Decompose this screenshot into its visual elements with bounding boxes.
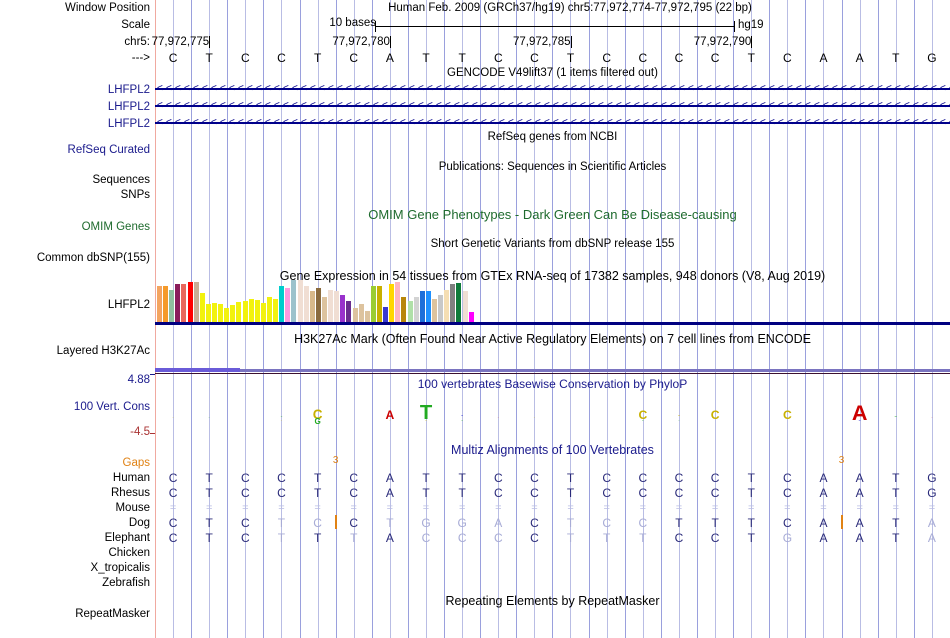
strand-arrow-icon: < bbox=[670, 100, 676, 112]
species-label-zebrafish[interactable]: Zebrafish bbox=[0, 577, 155, 590]
alignment-base: T bbox=[445, 472, 479, 484]
strand-arrow-icon: < bbox=[850, 83, 856, 95]
strand-arrow-icon: < bbox=[760, 117, 766, 129]
alignment-base: C bbox=[590, 487, 624, 499]
strand-arrow-icon: < bbox=[913, 83, 919, 95]
gtex-tissue-bar[interactable] bbox=[463, 291, 468, 322]
omim-genes-label[interactable]: OMIM Genes bbox=[0, 221, 155, 234]
reference-base: T bbox=[734, 51, 768, 65]
strand-arrow-icon: < bbox=[598, 100, 604, 112]
gap-count-label: 3 bbox=[832, 455, 852, 466]
strand-arrow-icon: < bbox=[355, 83, 361, 95]
phylop-conservation-logo[interactable]: ----CGA-T-----C---CCA--- bbox=[155, 400, 950, 440]
strand-arrow-icon: < bbox=[490, 100, 496, 112]
gtex-tissue-bar[interactable] bbox=[304, 286, 309, 322]
gtex-tissue-bar[interactable] bbox=[261, 303, 266, 322]
strand-arrow-icon: < bbox=[256, 117, 262, 129]
gtex-tissue-bar[interactable] bbox=[188, 282, 193, 322]
strand-arrow-icon: < bbox=[886, 83, 892, 95]
gtex-tissue-bar[interactable] bbox=[236, 302, 241, 322]
strand-arrow-icon: < bbox=[931, 83, 937, 95]
alignment-base: = bbox=[590, 502, 624, 514]
alignment-base: T bbox=[301, 487, 335, 499]
strand-arrow-icon: < bbox=[877, 100, 883, 112]
strand-arrow-icon: < bbox=[751, 83, 757, 95]
strand-arrow-icon: < bbox=[319, 83, 325, 95]
strand-arrow-icon: < bbox=[454, 100, 460, 112]
strand-arrow-icon: < bbox=[517, 100, 523, 112]
strand-arrow-icon: < bbox=[724, 83, 730, 95]
strand-arrow-icon: < bbox=[895, 83, 901, 95]
alignment-base: T bbox=[734, 472, 768, 484]
strand-arrow-icon: < bbox=[877, 117, 883, 129]
strand-arrow-icon: < bbox=[562, 117, 568, 129]
alignment-row-rhesus[interactable]: CTCCTCATTCCTCCCCTCAATG bbox=[155, 487, 950, 499]
strand-arrow-icon: < bbox=[346, 117, 352, 129]
conservation-logo-letter: - bbox=[855, 420, 865, 423]
strand-arrow-icon: < bbox=[697, 117, 703, 129]
strand-arrow-icon: < bbox=[454, 83, 460, 95]
alignment-row-dog[interactable]: CTCTCCTGGACTCCTTTCAATA bbox=[155, 517, 950, 529]
alignment-base: T bbox=[879, 472, 913, 484]
alignment-base: = bbox=[807, 502, 841, 514]
strand-arrow-icon: < bbox=[193, 117, 199, 129]
alignment-base: = bbox=[554, 502, 588, 514]
reference-base: C bbox=[264, 51, 298, 65]
species-label-rhesus[interactable]: Rhesus bbox=[0, 487, 155, 500]
conservation-logo-letter: - bbox=[891, 414, 901, 418]
strand-arrow-icon: < bbox=[319, 117, 325, 129]
strand-arrow-icon: < bbox=[292, 100, 298, 112]
gtex-tissue-bar[interactable] bbox=[169, 290, 174, 322]
strand-arrow-icon: < bbox=[229, 83, 235, 95]
gtex-tissue-bar[interactable] bbox=[383, 307, 388, 322]
gtex-tissue-bar[interactable] bbox=[346, 301, 351, 322]
strand-arrow-icon: < bbox=[184, 83, 190, 95]
strand-arrow-icon: < bbox=[607, 117, 613, 129]
conservation-min-value: -4.5 bbox=[4, 426, 155, 439]
gtex-tissue-bar[interactable] bbox=[175, 284, 180, 322]
conservation-logo-letter: - bbox=[385, 419, 395, 421]
alignment-base: A bbox=[373, 472, 407, 484]
strand-arrow-icon: < bbox=[346, 83, 352, 95]
alignment-base: C bbox=[698, 472, 732, 484]
alignment-base: C bbox=[626, 487, 660, 499]
gtex-tissue-bar[interactable] bbox=[408, 301, 413, 322]
strand-arrow-icon: < bbox=[814, 117, 820, 129]
gencode-row-label-1[interactable]: LHFPL2 bbox=[0, 84, 155, 97]
h3k27ac-signal-left[interactable] bbox=[155, 368, 240, 372]
gtex-tissue-bar[interactable] bbox=[218, 304, 223, 322]
alignment-base: C bbox=[301, 517, 335, 529]
gtex-tissue-bar[interactable] bbox=[157, 286, 162, 322]
conservation-logo-letter: C bbox=[709, 409, 722, 421]
refseq-track-title: RefSeq genes from NCBI bbox=[155, 131, 950, 143]
strand-arrow-icon: < bbox=[382, 117, 388, 129]
strand-arrow-icon: < bbox=[166, 117, 172, 129]
strand-arrow-icon: < bbox=[391, 83, 397, 95]
strand-arrow-icon: < bbox=[706, 117, 712, 129]
strand-arrow-icon: < bbox=[589, 83, 595, 95]
gtex-tissue-bar[interactable] bbox=[389, 284, 394, 322]
gencode-track-title: GENCODE V49lift37 (1 items filtered out) bbox=[155, 67, 950, 79]
alignment-base: A bbox=[915, 517, 949, 529]
gencode-transcript-row-1[interactable]: <<<<<<<<<<<<<<<<<<<<<<<<<<<<<<<<<<<<<<<<… bbox=[155, 83, 950, 95]
gtex-tissue-bar[interactable] bbox=[163, 286, 168, 322]
alignment-base: A bbox=[843, 517, 877, 529]
strand-arrow-icon: < bbox=[616, 117, 622, 129]
strand-arrow-icon: < bbox=[805, 83, 811, 95]
species-label-human[interactable]: Human bbox=[0, 472, 155, 485]
gtex-tissue-bar[interactable] bbox=[200, 293, 205, 322]
strand-arrow-icon: < bbox=[526, 83, 532, 95]
strand-arrow-icon: < bbox=[868, 100, 874, 112]
gtex-tissue-bar[interactable] bbox=[377, 286, 382, 322]
strand-arrow-icon: < bbox=[787, 117, 793, 129]
strand-arrow-icon: < bbox=[175, 83, 181, 95]
strand-arrow-icon: < bbox=[265, 117, 271, 129]
gtex-tissue-bar[interactable] bbox=[310, 291, 315, 322]
gtex-tissue-bar[interactable] bbox=[322, 297, 327, 322]
strand-arrow-icon: < bbox=[418, 117, 424, 129]
species-label-mouse[interactable]: Mouse bbox=[0, 502, 155, 515]
gtex-tissue-bar[interactable] bbox=[469, 312, 474, 322]
strand-arrow-icon: < bbox=[355, 117, 361, 129]
gtex-tissue-bar[interactable] bbox=[291, 280, 296, 322]
gtex-tissue-bar[interactable] bbox=[273, 299, 278, 322]
conservation-label[interactable]: 100 Vert. Cons bbox=[0, 401, 155, 414]
alignment-base: C bbox=[662, 472, 696, 484]
strand-arrow-icon: < bbox=[904, 100, 910, 112]
publications-sequences-label[interactable]: Sequences bbox=[0, 174, 155, 187]
strand-arrow-icon: < bbox=[301, 83, 307, 95]
alignment-base: = bbox=[192, 502, 226, 514]
alignment-row-chicken[interactable] bbox=[155, 547, 950, 559]
strand-arrow-icon: < bbox=[913, 100, 919, 112]
conservation-logo-letter: - bbox=[674, 419, 684, 421]
strand-arrow-icon: < bbox=[355, 100, 361, 112]
gtex-label[interactable]: LHFPL2 bbox=[0, 299, 155, 312]
strand-arrow-icon: < bbox=[508, 117, 514, 129]
strand-arrow-icon: < bbox=[166, 100, 172, 112]
strand-arrow-icon: < bbox=[571, 100, 577, 112]
gtex-tissue-bar[interactable] bbox=[395, 282, 400, 322]
strand-arrow-icon: < bbox=[643, 117, 649, 129]
alignment-base: = bbox=[156, 502, 190, 514]
conservation-logo-letter: - bbox=[457, 415, 467, 418]
strand-arrow-icon: < bbox=[283, 83, 289, 95]
alignment-row-mouse[interactable]: ====================== bbox=[155, 502, 950, 514]
gtex-tissue-bar[interactable] bbox=[194, 282, 199, 322]
alignment-base: C bbox=[156, 487, 190, 499]
repeatmasker-label[interactable]: RepeatMasker bbox=[0, 608, 155, 621]
strand-arrow-icon: < bbox=[598, 117, 604, 129]
gtex-tissue-bar[interactable] bbox=[438, 295, 443, 322]
strand-arrow-icon: < bbox=[481, 117, 487, 129]
gtex-tissue-bar[interactable] bbox=[243, 301, 248, 322]
strand-arrow-icon: < bbox=[166, 83, 172, 95]
alignment-base: A bbox=[915, 532, 949, 544]
alignment-base: T bbox=[879, 532, 913, 544]
strand-arrow-icon: < bbox=[445, 100, 451, 112]
species-label-elephant[interactable]: Elephant bbox=[0, 532, 155, 545]
gtex-tissue-bar[interactable] bbox=[432, 299, 437, 322]
alignment-base: C bbox=[481, 532, 515, 544]
strand-arrow-icon: < bbox=[211, 117, 217, 129]
gtex-tissue-bar[interactable] bbox=[267, 297, 272, 322]
conservation-logo-letter: - bbox=[529, 416, 539, 418]
gtex-tissue-bar[interactable] bbox=[456, 283, 461, 322]
alignment-base: A bbox=[373, 532, 407, 544]
strand-arrow-icon: < bbox=[625, 100, 631, 112]
alignment-base: T bbox=[554, 532, 588, 544]
strand-arrow-icon: < bbox=[913, 117, 919, 129]
conservation-logo-letter: G bbox=[313, 418, 323, 426]
strand-arrow-icon: < bbox=[625, 117, 631, 129]
strand-arrow-icon: < bbox=[751, 117, 757, 129]
strand-arrow-icon: < bbox=[274, 83, 280, 95]
strand-arrow-icon: < bbox=[922, 83, 928, 95]
alignment-base: A bbox=[843, 532, 877, 544]
strand-arrow-label: ---> bbox=[0, 52, 155, 65]
reference-base: C bbox=[770, 51, 804, 65]
publications-snps-label[interactable]: SNPs bbox=[0, 189, 155, 202]
gtex-tissue-bar[interactable] bbox=[334, 291, 339, 322]
gtex-tissue-bar[interactable] bbox=[224, 308, 229, 322]
strand-arrow-icon: < bbox=[535, 100, 541, 112]
strand-arrow-icon: < bbox=[418, 100, 424, 112]
strand-arrow-icon: < bbox=[337, 117, 343, 129]
h3k27ac-signal-right[interactable] bbox=[240, 369, 950, 372]
reference-base: G bbox=[915, 51, 949, 65]
alignment-base: T bbox=[301, 532, 335, 544]
conservation-logo-letter: - bbox=[927, 416, 937, 418]
strand-arrow-icon: < bbox=[850, 100, 856, 112]
strand-arrow-icon: < bbox=[706, 100, 712, 112]
strand-arrow-icon: < bbox=[418, 83, 424, 95]
strand-arrow-icon: < bbox=[841, 100, 847, 112]
gtex-tissue-bar[interactable] bbox=[328, 290, 333, 322]
gaps-label: Gaps bbox=[0, 457, 155, 470]
alignment-row-zebrafish[interactable] bbox=[155, 577, 950, 589]
strand-arrow-icon: < bbox=[787, 100, 793, 112]
reference-base: T bbox=[554, 51, 588, 65]
gtex-tissue-bar[interactable] bbox=[249, 299, 254, 322]
gtex-tissue-bar[interactable] bbox=[212, 303, 217, 322]
strand-arrow-icon: < bbox=[742, 100, 748, 112]
alignment-row-human[interactable]: CTCCTCATTCCTCCCCTCAATG bbox=[155, 472, 950, 484]
alignment-base: C bbox=[228, 487, 262, 499]
strand-arrow-icon: < bbox=[607, 83, 613, 95]
reference-base: T bbox=[192, 51, 226, 65]
gap-marker-icon bbox=[841, 515, 843, 529]
strand-arrow-icon: < bbox=[661, 117, 667, 129]
strand-arrow-icon: < bbox=[607, 100, 613, 112]
strand-arrow-icon: < bbox=[760, 100, 766, 112]
strand-arrow-icon: < bbox=[553, 83, 559, 95]
reference-base: C bbox=[228, 51, 262, 65]
gtex-tissue-bar[interactable] bbox=[444, 290, 449, 322]
gtex-tissue-bar[interactable] bbox=[340, 295, 345, 322]
gtex-tissue-bar[interactable] bbox=[285, 288, 290, 322]
alignment-base: T bbox=[264, 517, 298, 529]
track-label-column: Window Position Scale chr5: ---> LHFPL2 … bbox=[0, 0, 155, 638]
alignment-base: T bbox=[445, 487, 479, 499]
strand-arrow-icon: < bbox=[715, 117, 721, 129]
alignment-base: C bbox=[590, 472, 624, 484]
gtex-tissue-bar[interactable] bbox=[353, 308, 358, 322]
strand-arrow-icon: < bbox=[220, 117, 226, 129]
strand-arrow-icon: < bbox=[517, 117, 523, 129]
alignment-base: C bbox=[445, 532, 479, 544]
reference-base: C bbox=[590, 51, 624, 65]
strand-arrow-icon: < bbox=[427, 83, 433, 95]
gtex-tissue-bar[interactable] bbox=[414, 297, 419, 322]
strand-arrow-icon: < bbox=[616, 100, 622, 112]
gtex-tissue-bar[interactable] bbox=[371, 286, 376, 322]
strand-arrow-icon: < bbox=[328, 100, 334, 112]
alignment-row-elephant[interactable]: CTCTTTACCCCTTTCCTGAATA bbox=[155, 532, 950, 544]
conservation-logo-letter: - bbox=[421, 419, 431, 422]
reference-base: C bbox=[481, 51, 515, 65]
alignment-base: C bbox=[156, 517, 190, 529]
strand-arrow-icon: < bbox=[328, 117, 334, 129]
gtex-tissue-bar[interactable] bbox=[255, 300, 260, 322]
alignment-base: = bbox=[228, 502, 262, 514]
alignment-base: = bbox=[445, 502, 479, 514]
gtex-expression-barchart[interactable] bbox=[155, 278, 950, 324]
strand-arrow-icon: < bbox=[472, 83, 478, 95]
alignment-base: T bbox=[590, 532, 624, 544]
strand-arrow-icon: < bbox=[310, 100, 316, 112]
strand-arrow-icon: < bbox=[931, 117, 937, 129]
strand-arrow-icon: < bbox=[886, 117, 892, 129]
strand-arrow-icon: < bbox=[184, 117, 190, 129]
alignment-base: C bbox=[156, 532, 190, 544]
alignment-base: T bbox=[409, 487, 443, 499]
alignment-base: C bbox=[228, 517, 262, 529]
alignment-base: T bbox=[734, 487, 768, 499]
strand-arrow-icon: < bbox=[688, 83, 694, 95]
strand-arrow-icon: < bbox=[769, 117, 775, 129]
strand-arrow-icon: < bbox=[400, 117, 406, 129]
strand-arrow-icon: < bbox=[463, 83, 469, 95]
gtex-tissue-bar[interactable] bbox=[426, 291, 431, 322]
strand-arrow-icon: < bbox=[868, 83, 874, 95]
common-dbsnp-label[interactable]: Common dbSNP(155) bbox=[0, 252, 155, 265]
strand-arrow-icon: < bbox=[301, 100, 307, 112]
alignment-base: = bbox=[409, 502, 443, 514]
strand-arrow-icon: < bbox=[427, 117, 433, 129]
strand-arrow-icon: < bbox=[832, 117, 838, 129]
refseq-curated-label[interactable]: RefSeq Curated bbox=[0, 144, 155, 157]
strand-arrow-icon: < bbox=[409, 100, 415, 112]
conservation-max-tick bbox=[150, 374, 155, 375]
h3k27ac-label[interactable]: Layered H3K27Ac bbox=[0, 345, 155, 358]
strand-arrow-icon: < bbox=[859, 100, 865, 112]
species-label-dog[interactable]: Dog bbox=[0, 517, 155, 530]
alignment-base: = bbox=[481, 502, 515, 514]
alignment-base: G bbox=[915, 487, 949, 499]
alignment-base: C bbox=[517, 487, 551, 499]
strand-arrow-icon: < bbox=[274, 100, 280, 112]
strand-arrow-icon: < bbox=[445, 83, 451, 95]
strand-arrow-icon: < bbox=[778, 100, 784, 112]
alignment-base: = bbox=[662, 502, 696, 514]
gtex-tissue-bar[interactable] bbox=[316, 288, 321, 322]
species-label-x-tropicalis[interactable]: X_tropicalis bbox=[0, 562, 155, 575]
conservation-logo-letter: - bbox=[168, 416, 178, 418]
strand-arrow-icon: < bbox=[886, 100, 892, 112]
strand-arrow-icon: < bbox=[589, 100, 595, 112]
strand-arrow-icon: < bbox=[859, 83, 865, 95]
strand-arrow-icon: < bbox=[805, 100, 811, 112]
gtex-tissue-bar[interactable] bbox=[181, 284, 186, 322]
strand-arrow-icon: < bbox=[841, 117, 847, 129]
strand-arrow-icon: < bbox=[724, 117, 730, 129]
strand-arrow-icon: < bbox=[823, 83, 829, 95]
gaps-row: 33 bbox=[155, 455, 950, 471]
gtex-tissue-bar[interactable] bbox=[359, 304, 364, 322]
alignment-base: = bbox=[337, 502, 371, 514]
gtex-tissue-bar[interactable] bbox=[230, 305, 235, 322]
gtex-tissue-bar[interactable] bbox=[279, 286, 284, 322]
gtex-tissue-bar[interactable] bbox=[298, 280, 303, 322]
ruler-tick-label: 77,972,775 bbox=[125, 36, 209, 48]
reference-base: T bbox=[301, 51, 335, 65]
strand-arrow-icon: < bbox=[202, 117, 208, 129]
species-label-chicken[interactable]: Chicken bbox=[0, 547, 155, 560]
strand-arrow-icon: < bbox=[679, 117, 685, 129]
gtex-tissue-bar[interactable] bbox=[206, 304, 211, 322]
gencode-transcript-row-3[interactable]: <<<<<<<<<<<<<<<<<<<<<<<<<<<<<<<<<<<<<<<<… bbox=[155, 117, 950, 129]
assembly-position-header: Human Feb. 2009 (GRCh37/hg19) chr5:77,97… bbox=[320, 2, 820, 14]
strand-arrow-icon: < bbox=[274, 117, 280, 129]
gtex-tissue-bar[interactable] bbox=[401, 297, 406, 322]
strand-arrow-icon: < bbox=[643, 83, 649, 95]
strand-arrow-icon: < bbox=[409, 83, 415, 95]
strand-arrow-icon: < bbox=[517, 83, 523, 95]
alignment-base: T bbox=[337, 532, 371, 544]
alignment-base: T bbox=[264, 532, 298, 544]
gencode-row-label-3[interactable]: LHFPL2 bbox=[0, 118, 155, 131]
strand-arrow-icon: < bbox=[283, 100, 289, 112]
strand-arrow-icon: < bbox=[481, 100, 487, 112]
omim-track-title: OMIM Gene Phenotypes - Dark Green Can Be… bbox=[155, 207, 950, 222]
strand-arrow-icon: < bbox=[229, 100, 235, 112]
gencode-transcript-row-2[interactable]: <<<<<<<<<<<<<<<<<<<<<<<<<<<<<<<<<<<<<<<<… bbox=[155, 100, 950, 112]
strand-arrow-icon: < bbox=[814, 100, 820, 112]
alignment-row-x_tropicalis[interactable] bbox=[155, 562, 950, 574]
strand-arrow-icon: < bbox=[769, 100, 775, 112]
gtex-tissue-bar[interactable] bbox=[365, 311, 370, 322]
alignment-base: = bbox=[879, 502, 913, 514]
gtex-tissue-bar[interactable] bbox=[420, 291, 425, 322]
strand-arrow-icon: < bbox=[652, 100, 658, 112]
strand-arrow-icon: < bbox=[661, 83, 667, 95]
conservation-logo-letter: - bbox=[457, 419, 467, 422]
alignment-base: C bbox=[770, 487, 804, 499]
strand-arrow-icon: < bbox=[445, 117, 451, 129]
strand-arrow-icon: < bbox=[400, 100, 406, 112]
alignment-base: C bbox=[770, 472, 804, 484]
gencode-row-label-2[interactable]: LHFPL2 bbox=[0, 101, 155, 114]
strand-arrow-icon: < bbox=[373, 117, 379, 129]
strand-arrow-icon: < bbox=[742, 83, 748, 95]
alignment-base: C bbox=[337, 472, 371, 484]
gtex-tissue-bar[interactable] bbox=[450, 284, 455, 322]
strand-arrow-icon: < bbox=[400, 83, 406, 95]
